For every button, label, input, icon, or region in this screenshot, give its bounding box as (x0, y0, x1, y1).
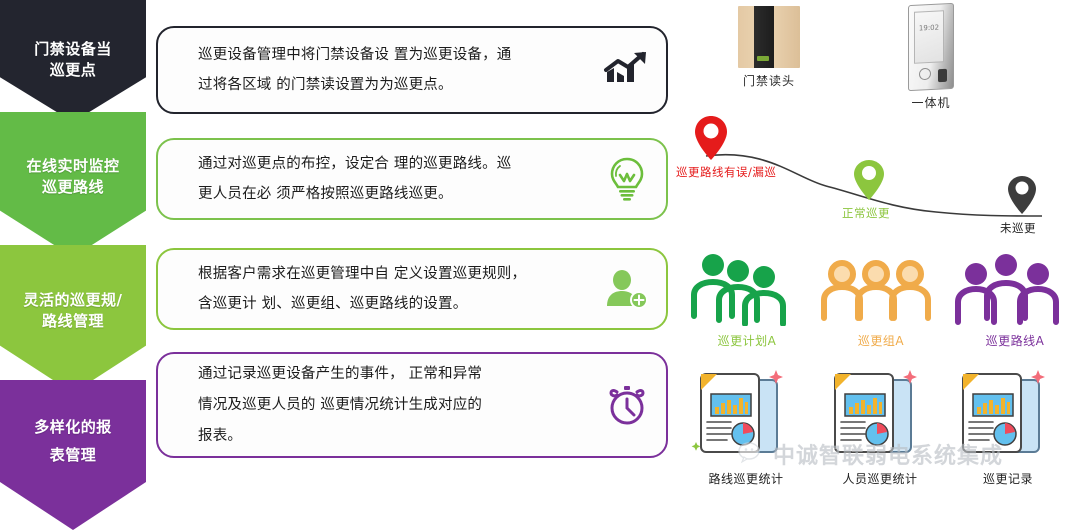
lightbulb-icon (588, 156, 666, 202)
card-text-4: 通过记录巡更设备产生的事件， 正常和异常 情况及巡更人员的 巡更情况统计生成对应… (158, 359, 588, 452)
device-all-in-one: 19:02 一体机 (876, 4, 986, 111)
pin-missed-icon (1006, 174, 1038, 220)
device-caption-aio: 一体机 (876, 94, 986, 111)
stage-label-1: 门禁设备当 巡更点 (34, 39, 112, 81)
people-group-icon (686, 248, 808, 326)
group-caption-plan: 巡更计划A (682, 332, 812, 349)
description-card-1[interactable]: 巡更设备管理中将门禁设备设 置为巡更设备，通 过将各区域 的门禁读设置为为巡更点… (156, 26, 668, 114)
stage-chevron-2[interactable]: 在线实时监控 巡更路线 (0, 112, 146, 257)
report-person-stats: 人员巡更统计 (820, 364, 940, 487)
patrol-route-map: 巡更路线有误/漏巡 正常巡更 未巡更 (676, 112, 1074, 248)
access-reader-image (738, 6, 800, 68)
stage-chevron-column: 门禁设备当 巡更点 在线实时监控 巡更路线 灵活的巡更规/ 路线管理 多样化的报… (0, 0, 146, 501)
report-records: 巡更记录 (948, 364, 1068, 487)
device-row: 门禁读头 19:02 一体机 (676, 4, 1074, 112)
pin-normal-icon (852, 158, 886, 206)
report-caption-1: 路线巡更统计 (686, 470, 806, 487)
infographic-root: 门禁设备当 巡更点 在线实时监控 巡更路线 灵活的巡更规/ 路线管理 多样化的报… (0, 0, 1074, 501)
group-caption-team: 巡更组A (816, 332, 946, 349)
terminal-screen-time: 19:02 (914, 10, 944, 64)
description-card-3[interactable]: 根据客户需求在巡更管理中自 定义设置巡更规则， 含巡更计 划、巡更组、巡更路线的… (156, 248, 668, 330)
alarm-clock-icon (588, 382, 666, 428)
pin-error-icon (692, 114, 730, 166)
report-route-stats: 路线巡更统计 (686, 364, 806, 487)
report-caption-3: 巡更记录 (948, 470, 1068, 487)
stage-chevron-1[interactable]: 门禁设备当 巡更点 (0, 0, 146, 122)
stage-chevron-4[interactable]: 多样化的报 表管理 (0, 380, 146, 530)
report-caption-2: 人员巡更统计 (820, 470, 940, 487)
people-group-icon (820, 256, 942, 326)
all-in-one-terminal-image: 19:02 (908, 4, 954, 90)
report-document-icon (953, 364, 1063, 464)
group-caption-route: 巡更路线A (950, 332, 1074, 349)
growth-chart-icon (588, 48, 666, 92)
pin-label-normal: 正常巡更 (842, 205, 890, 221)
card-text-2: 通过对巡更点的布控，设定合 理的巡更路线。巡 更人员在必 须严格按照巡更路线巡更… (158, 149, 588, 209)
people-group-icon (954, 248, 1074, 326)
pin-label-missed: 未巡更 (1000, 220, 1036, 236)
stage-label-2: 在线实时监控 巡更路线 (26, 156, 119, 198)
card-text-1: 巡更设备管理中将门禁设备设 置为巡更设备，通 过将各区域 的门禁读设置为为巡更点… (158, 40, 588, 100)
pin-label-error: 巡更路线有误/漏巡 (676, 164, 776, 180)
report-document-icon (691, 364, 801, 464)
right-illustration-panel: 门禁读头 19:02 一体机 (676, 0, 1074, 501)
report-row: 路线巡更统计 (676, 360, 1074, 501)
description-card-2[interactable]: 通过对巡更点的布控，设定合 理的巡更路线。巡 更人员在必 须严格按照巡更路线巡更… (156, 138, 668, 220)
group-route: 巡更路线A (950, 248, 1074, 349)
device-caption-reader: 门禁读头 (714, 72, 824, 89)
device-access-reader: 门禁读头 (714, 6, 824, 89)
user-add-icon (588, 268, 666, 310)
group-team: 巡更组A (816, 256, 946, 349)
stage-label-4: 多样化的报 表管理 (34, 413, 112, 469)
patrol-group-row: 巡更计划A 巡更组A (676, 248, 1074, 360)
stage-chevron-3[interactable]: 灵活的巡更规/ 路线管理 (0, 245, 146, 393)
stage-label-3: 灵活的巡更规/ 路线管理 (24, 290, 123, 332)
description-card-4[interactable]: 通过记录巡更设备产生的事件， 正常和异常 情况及巡更人员的 巡更情况统计生成对应… (156, 352, 668, 458)
report-document-icon (825, 364, 935, 464)
card-text-3: 根据客户需求在巡更管理中自 定义设置巡更规则， 含巡更计 划、巡更组、巡更路线的… (158, 259, 588, 319)
group-plan: 巡更计划A (682, 248, 812, 349)
